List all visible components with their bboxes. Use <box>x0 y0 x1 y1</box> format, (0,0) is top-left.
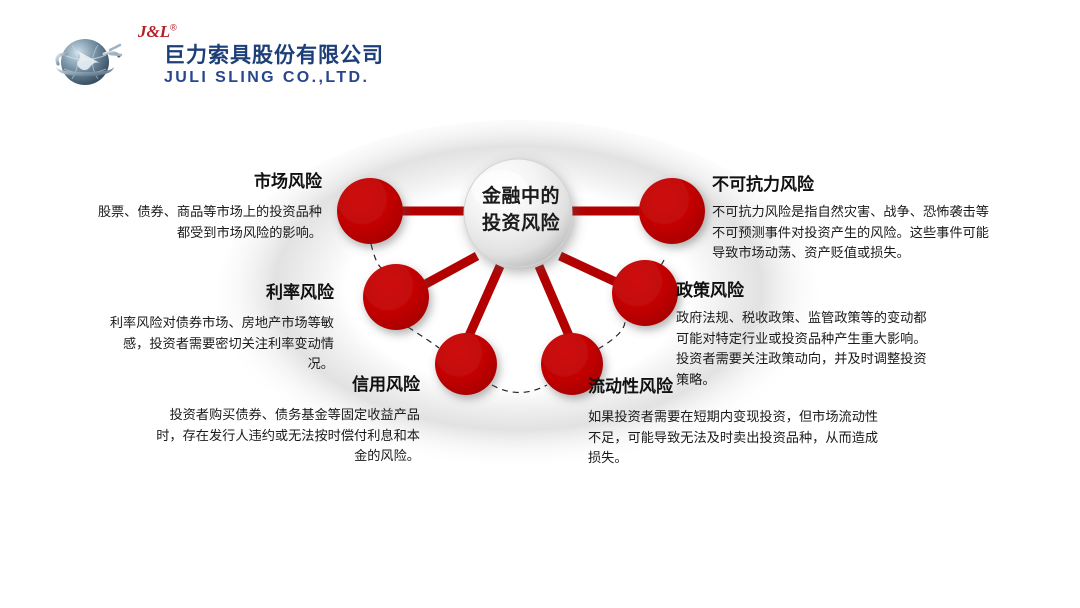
center-hub[interactable] <box>464 159 572 267</box>
risk-block-liquidity: 流动性风险 如果投资者需要在短期内变现投资，但市场流动性不足，可能导致无法及时卖… <box>588 377 890 469</box>
risk-body-force-majeure: 不可抗力风险是指自然灾害、战争、恐怖袭击等不可预测事件对投资产生的风险。这些事件… <box>712 202 1002 264</box>
risk-body-policy: 政府法规、税收政策、监管政策等的变动都可能对特定行业或投资品种产生重大影响。投资… <box>676 308 934 390</box>
risk-block-credit: 信用风险 投资者购买债券、债务基金等固定收益产品时，存在发行人违约或无法按时偿付… <box>152 375 420 467</box>
investment-risk-diagram: 金融中的 投资风险 市场风险 股票、债券、商品等市场上的投资品种都受到市场风险的… <box>0 0 1080 608</box>
risk-title-credit: 信用风险 <box>152 375 420 395</box>
risk-block-market: 市场风险 股票、债券、商品等市场上的投资品种都受到市场风险的影响。 <box>96 172 322 243</box>
risk-title-interest: 利率风险 <box>108 283 334 303</box>
node-credit[interactable] <box>435 333 497 395</box>
node-policy[interactable] <box>612 260 678 326</box>
risk-title-force-majeure: 不可抗力风险 <box>712 175 1002 195</box>
node-interest[interactable] <box>363 264 429 330</box>
node-force-majeure[interactable] <box>639 178 705 244</box>
risk-body-credit: 投资者购买债券、债务基金等固定收益产品时，存在发行人违约或无法按时偿付利息和本金… <box>152 405 420 467</box>
risk-body-interest: 利率风险对债券市场、房地产市场等敏感，投资者需要密切关注利率变动情况。 <box>108 313 334 375</box>
risk-block-force-majeure: 不可抗力风险 不可抗力风险是指自然灾害、战争、恐怖袭击等不可预测事件对投资产生的… <box>712 175 1002 264</box>
risk-title-policy: 政策风险 <box>676 281 934 301</box>
risk-block-policy: 政策风险 政府法规、税收政策、监管政策等的变动都可能对特定行业或投资品种产生重大… <box>676 281 934 390</box>
risk-block-interest: 利率风险 利率风险对债券市场、房地产市场等敏感，投资者需要密切关注利率变动情况。 <box>108 283 334 375</box>
risk-body-market: 股票、债券、商品等市场上的投资品种都受到市场风险的影响。 <box>96 202 322 243</box>
risk-title-market: 市场风险 <box>96 172 322 192</box>
node-market[interactable] <box>337 178 403 244</box>
risk-body-liquidity: 如果投资者需要在短期内变现投资，但市场流动性不足，可能导致无法及时卖出投资品种，… <box>588 407 890 469</box>
